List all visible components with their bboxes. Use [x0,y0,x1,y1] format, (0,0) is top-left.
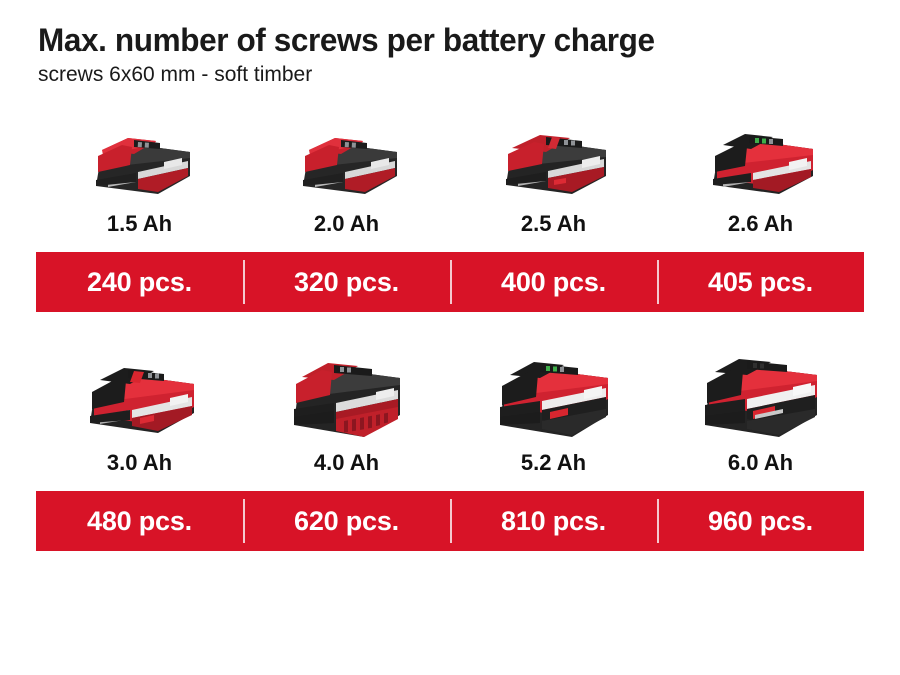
value-text: 405 pcs. [708,269,813,296]
battery-cell-2-3: 5.2 Ah [450,357,657,474]
value-cell-2-4: 960 pcs. [657,491,864,551]
value-bar-row-2: 480 pcs. 620 pcs. 810 pcs. 960 pcs. [36,491,864,551]
battery-cell-1-1: 1.5 Ah [36,118,243,235]
battery-icon-6-0ah [691,357,831,443]
header: Max. number of screws per battery charge… [38,24,878,86]
battery-capacity-label: 6.0 Ah [728,452,793,474]
battery-capacity-label: 4.0 Ah [314,452,379,474]
value-text: 960 pcs. [708,508,813,535]
battery-cell-2-4: 6.0 Ah [657,357,864,474]
battery-capacity-label: 2.5 Ah [521,213,586,235]
infographic-page: Max. number of screws per battery charge… [0,0,900,675]
battery-capacity-label: 2.6 Ah [728,213,793,235]
value-text: 400 pcs. [501,269,606,296]
battery-row-block-2: 3.0 Ah [36,357,864,551]
page-title: Max. number of screws per battery charge [38,24,865,58]
battery-icon-4-0ah [280,357,414,443]
value-text: 620 pcs. [294,508,399,535]
value-cell-1-2: 320 pcs. [243,252,450,312]
value-cell-2-1: 480 pcs. [36,491,243,551]
value-cell-2-2: 620 pcs. [243,491,450,551]
value-cell-1-1: 240 pcs. [36,252,243,312]
battery-icon-1-5ah [78,118,202,204]
battery-cell-2-1: 3.0 Ah [36,357,243,474]
value-bar-row-1: 240 pcs. 320 pcs. 400 pcs. 405 pcs. [36,252,864,312]
battery-image-row-1: 1.5 Ah [36,118,864,235]
battery-icon-2-0ah [285,118,409,204]
battery-cell-1-4: 2.6 Ah [657,118,864,235]
battery-capacity-label: 5.2 Ah [521,452,586,474]
value-cell-2-3: 810 pcs. [450,491,657,551]
battery-capacity-label: 3.0 Ah [107,452,172,474]
battery-icon-2-5ah [490,118,618,204]
battery-icon-3-0ah [74,357,206,443]
value-cell-1-4: 405 pcs. [657,252,864,312]
battery-cell-1-3: 2.5 Ah [450,118,657,235]
page-subtitle: screws 6x60 mm - soft timber [38,63,878,86]
battery-icon-2-6ah [697,118,825,204]
value-text: 480 pcs. [87,508,192,535]
battery-cell-1-2: 2.0 Ah [243,118,450,235]
value-text: 810 pcs. [501,508,606,535]
value-text: 320 pcs. [294,269,399,296]
battery-capacity-label: 1.5 Ah [107,213,172,235]
value-cell-1-3: 400 pcs. [450,252,657,312]
battery-cell-2-2: 4.0 Ah [243,357,450,474]
battery-image-row-2: 3.0 Ah [36,357,864,474]
value-text: 240 pcs. [87,269,192,296]
battery-row-block-1: 1.5 Ah [36,118,864,312]
battery-icon-5-2ah [486,357,622,443]
battery-capacity-label: 2.0 Ah [314,213,379,235]
